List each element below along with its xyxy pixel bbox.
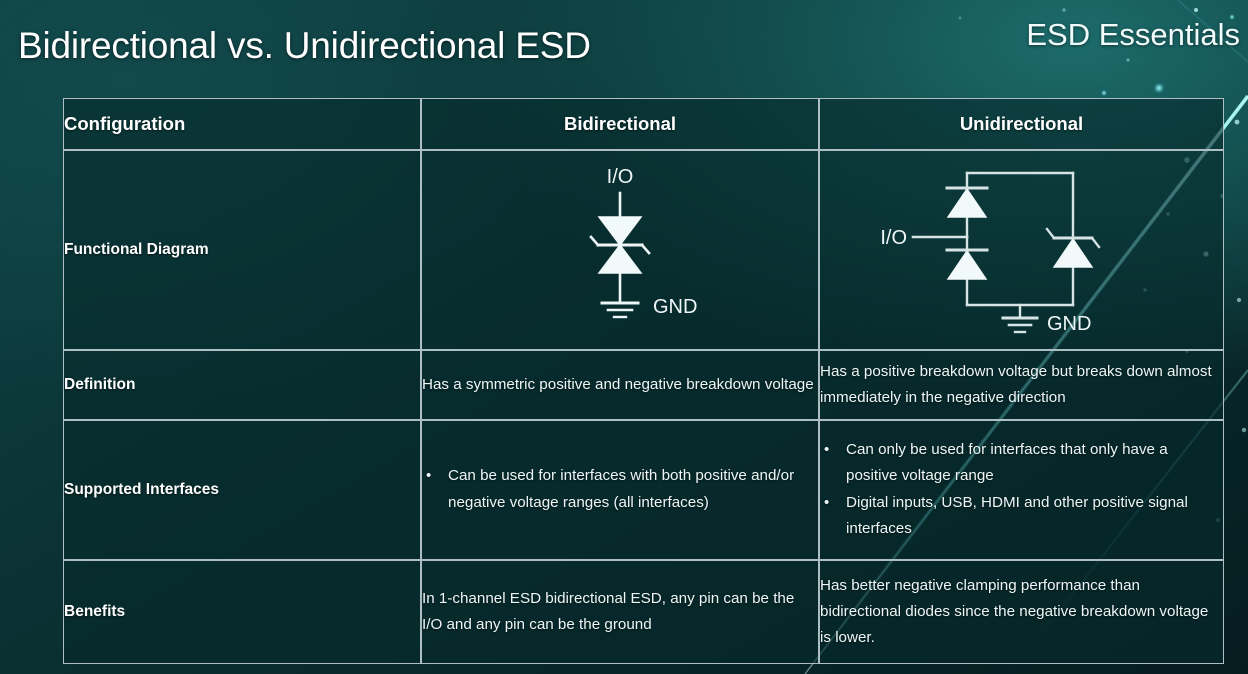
cell-unidirectional-diagram: I/O GND — [819, 150, 1224, 350]
cell-supported-interfaces-unidirectional: Can only be used for interfaces that onl… — [819, 420, 1224, 560]
column-header-bidirectional: Bidirectional — [421, 98, 819, 150]
row-label-benefits: Benefits — [63, 560, 421, 664]
column-header-configuration: Configuration — [63, 98, 421, 150]
list-item: Can only be used for interfaces that onl… — [820, 437, 1223, 489]
table-row-supported-interfaces: Supported Interfaces Can be used for int… — [63, 420, 1224, 560]
title-bar: Bidirectional vs. Unidirectional ESD ESD… — [0, 0, 1248, 92]
unidirectional-io-label: I/O — [880, 227, 907, 249]
series-label: ESD Essentials — [1026, 17, 1240, 53]
table-row-definition: Definition Has a symmetric positive and … — [63, 350, 1224, 420]
bidirectional-gnd-label: GND — [653, 296, 697, 318]
page-title: Bidirectional vs. Unidirectional ESD — [18, 25, 591, 67]
cell-supported-interfaces-bidirectional: Can be used for interfaces with both pos… — [421, 420, 819, 560]
table-body: Functional Diagram — [63, 150, 1224, 664]
cell-bidirectional-diagram: I/O GND — [421, 150, 819, 350]
row-label-functional-diagram: Functional Diagram — [63, 150, 421, 350]
bidirectional-io-label: I/O — [607, 166, 634, 188]
comparison-table: Configuration Bidirectional Unidirection… — [63, 98, 1224, 664]
cell-benefits-bidirectional: In 1-channel ESD bidirectional ESD, any … — [421, 560, 819, 664]
list-item: Digital inputs, USB, HDMI and other posi… — [820, 490, 1223, 542]
table-row-benefits: Benefits In 1-channel ESD bidirectional … — [63, 560, 1224, 664]
list-item: Can be used for interfaces with both pos… — [422, 463, 818, 515]
cell-definition-bidirectional: Has a symmetric positive and negative br… — [421, 350, 819, 420]
cell-benefits-unidirectional: Has better negative clamping performance… — [819, 560, 1224, 664]
column-header-unidirectional: Unidirectional — [819, 98, 1224, 150]
row-label-definition: Definition — [63, 350, 421, 420]
unidirectional-gnd-label: GND — [1047, 313, 1091, 335]
cell-definition-unidirectional: Has a positive breakdown voltage but bre… — [819, 350, 1224, 420]
bullet-list-unidirectional: Can only be used for interfaces that onl… — [820, 437, 1223, 543]
bidirectional-diagram-wrapper: I/O GND — [422, 155, 818, 345]
bullet-list-bidirectional: Can be used for interfaces with both pos… — [422, 463, 818, 515]
unidirectional-esd-diode-diagram: I/O GND — [877, 155, 1167, 345]
table-header: Configuration Bidirectional Unidirection… — [63, 98, 1224, 150]
table-header-row: Configuration Bidirectional Unidirection… — [63, 98, 1224, 150]
unidirectional-diagram-wrapper: I/O GND — [820, 155, 1223, 345]
table-row-functional-diagram: Functional Diagram — [63, 150, 1224, 350]
row-label-supported-interfaces: Supported Interfaces — [63, 420, 421, 560]
bidirectional-tvs-diode-diagram: I/O GND — [505, 155, 735, 345]
